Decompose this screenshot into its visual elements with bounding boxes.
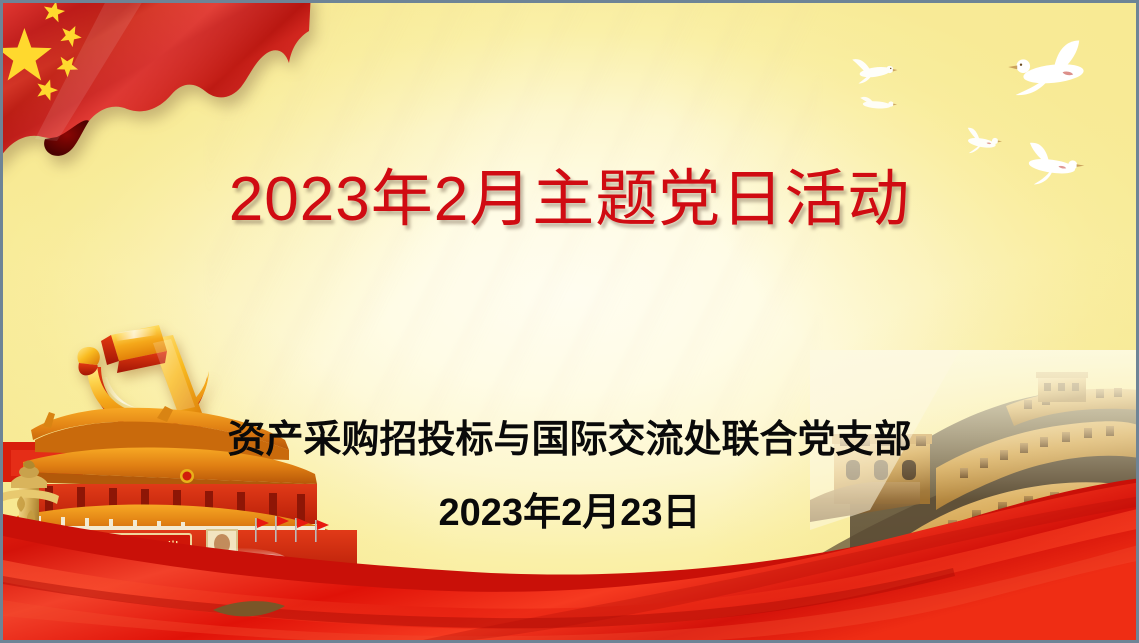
red-silk-ribbon: [3, 450, 1139, 640]
slide-subtitle: 资产采购招投标与国际交流处联合党支部: [3, 408, 1136, 463]
slide-title: 2023年2月主题党日活动: [3, 148, 1136, 238]
presentation-slide: 中华人民共和国万岁: [0, 0, 1139, 643]
slide-date: 2023年2月23日: [3, 481, 1136, 536]
dove-icon: [1006, 39, 1098, 101]
dove-icon: [846, 53, 898, 87]
dove-icon: [854, 91, 898, 117]
